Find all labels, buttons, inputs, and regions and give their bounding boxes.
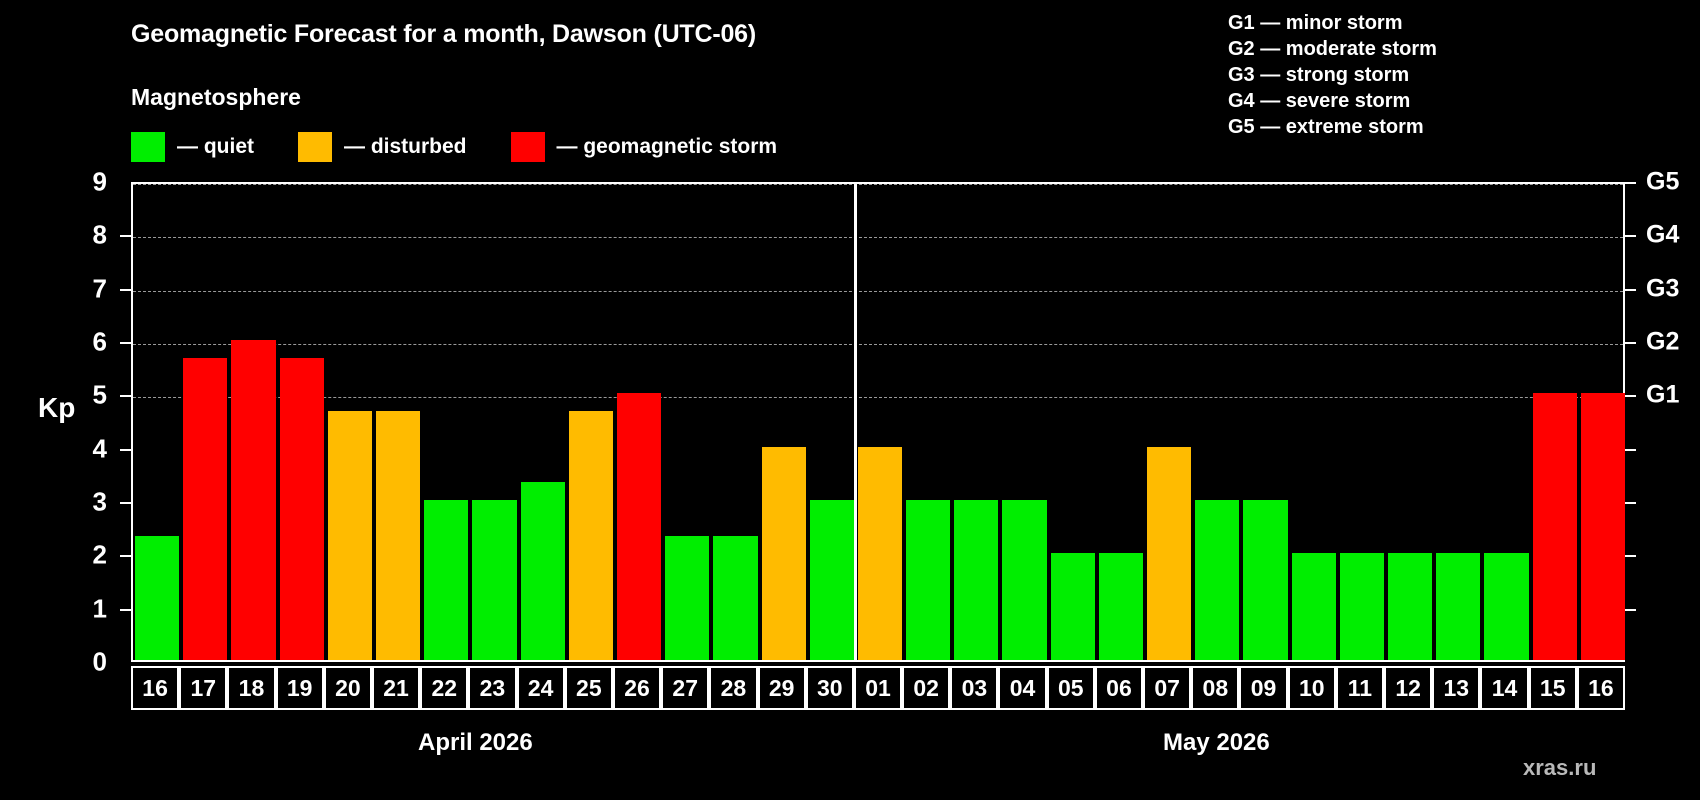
bar-26 — [617, 393, 661, 660]
bar-19 — [280, 358, 324, 660]
legend-label: — disturbed — [344, 135, 467, 159]
date-cell-8: 24 — [517, 666, 565, 710]
g-tick-label-G5: G5 — [1646, 168, 1679, 197]
g-tick-label-G4: G4 — [1646, 221, 1679, 250]
legend-item-disturbed: — disturbed — [298, 132, 511, 162]
g-tick-label-G3: G3 — [1646, 274, 1679, 303]
bar-05 — [1051, 553, 1095, 660]
bar-20 — [328, 411, 372, 660]
g-minor-tick-kp-2 — [1625, 555, 1636, 557]
bar-23 — [472, 500, 516, 660]
y-tick-label-8: 8 — [67, 220, 107, 251]
bar-25 — [569, 411, 613, 660]
date-cell-28: 14 — [1480, 666, 1528, 710]
date-cell-6: 22 — [420, 666, 468, 710]
y-tick-mark-8 — [120, 235, 131, 237]
g-tick-mark-G1 — [1625, 395, 1636, 397]
y-tick-mark-1 — [120, 609, 131, 611]
y-tick-label-3: 3 — [67, 487, 107, 518]
date-cell-10: 26 — [613, 666, 661, 710]
g-scale-legend: G1 — minor stormG2 — moderate stormG3 — … — [1228, 10, 1437, 140]
color-legend: — quiet— disturbed— geomagnetic storm — [131, 132, 821, 162]
chart-bars — [133, 184, 1623, 660]
bar-12 — [1388, 553, 1432, 660]
month-caption-may: May 2026 — [1163, 729, 1270, 757]
g-tick-label-G2: G2 — [1646, 328, 1679, 357]
chart-plot-area — [131, 182, 1625, 662]
y-tick-mark-6 — [120, 342, 131, 344]
bar-03 — [954, 500, 998, 660]
date-cell-23: 09 — [1239, 666, 1287, 710]
bar-10 — [1292, 553, 1336, 660]
date-cell-0: 16 — [131, 666, 179, 710]
date-cell-18: 04 — [998, 666, 1046, 710]
g-scale-line-5: G5 — extreme storm — [1228, 114, 1437, 140]
y-tick-mark-3 — [120, 502, 131, 504]
magnetosphere-subtitle: Magnetosphere — [131, 84, 301, 111]
g-tick-mark-G3 — [1625, 289, 1636, 291]
bar-15 — [1533, 393, 1577, 660]
red-square-icon — [511, 132, 545, 162]
date-cell-13: 29 — [758, 666, 806, 710]
date-cell-29: 15 — [1529, 666, 1577, 710]
legend-label: — geomagnetic storm — [557, 135, 778, 159]
month-divider-line — [854, 182, 857, 662]
bar-11 — [1340, 553, 1384, 660]
bar-08 — [1195, 500, 1239, 660]
bar-17 — [183, 358, 227, 660]
legend-item-geomagneticstorm: — geomagnetic storm — [511, 132, 822, 162]
legend-item-quiet: — quiet — [131, 132, 298, 162]
date-cell-7: 23 — [468, 666, 516, 710]
month-caption-april: April 2026 — [418, 729, 533, 757]
date-cell-26: 12 — [1384, 666, 1432, 710]
bar-04 — [1002, 500, 1046, 660]
date-cell-25: 11 — [1336, 666, 1384, 710]
date-cell-11: 27 — [661, 666, 709, 710]
y-tick-mark-4 — [120, 449, 131, 451]
y-tick-label-5: 5 — [67, 380, 107, 411]
g-minor-tick-kp-4 — [1625, 449, 1636, 451]
date-cell-21: 07 — [1143, 666, 1191, 710]
date-cell-5: 21 — [372, 666, 420, 710]
g-tick-label-G1: G1 — [1646, 381, 1679, 410]
date-cell-27: 13 — [1432, 666, 1480, 710]
bar-29 — [762, 447, 806, 660]
bar-28 — [713, 536, 757, 660]
date-cell-20: 06 — [1095, 666, 1143, 710]
date-cell-14: 30 — [806, 666, 854, 710]
date-cell-4: 20 — [324, 666, 372, 710]
bar-09 — [1243, 500, 1287, 660]
y-tick-label-7: 7 — [67, 273, 107, 304]
bar-22 — [424, 500, 468, 660]
green-square-icon — [131, 132, 165, 162]
legend-label: — quiet — [177, 135, 254, 159]
page-title: Geomagnetic Forecast for a month, Dawson… — [131, 20, 756, 49]
y-tick-label-1: 1 — [67, 593, 107, 624]
date-cell-15: 01 — [854, 666, 902, 710]
date-cell-30: 16 — [1577, 666, 1625, 710]
bar-18 — [231, 340, 275, 660]
bar-27 — [665, 536, 709, 660]
bar-07 — [1147, 447, 1191, 660]
y-tick-label-4: 4 — [67, 433, 107, 464]
bar-06 — [1099, 553, 1143, 660]
date-axis: 1617181920212223242526272829300102030405… — [131, 666, 1625, 710]
y-tick-label-0: 0 — [67, 647, 107, 678]
bar-30 — [810, 500, 854, 660]
date-cell-1: 17 — [179, 666, 227, 710]
y-tick-mark-5 — [120, 395, 131, 397]
bar-02 — [906, 500, 950, 660]
site-watermark: xras.ru — [1523, 755, 1596, 781]
g-scale-line-1: G1 — minor storm — [1228, 10, 1437, 36]
g-scale-line-3: G3 — strong storm — [1228, 62, 1437, 88]
bar-01 — [858, 447, 902, 660]
bar-16 — [1581, 393, 1625, 660]
date-cell-2: 18 — [227, 666, 275, 710]
y-tick-label-9: 9 — [67, 167, 107, 198]
g-scale-line-4: G4 — severe storm — [1228, 88, 1437, 114]
orange-square-icon — [298, 132, 332, 162]
bar-21 — [376, 411, 420, 660]
date-cell-9: 25 — [565, 666, 613, 710]
date-cell-17: 03 — [950, 666, 998, 710]
y-tick-label-6: 6 — [67, 327, 107, 358]
bar-13 — [1436, 553, 1480, 660]
g-minor-tick-kp-1 — [1625, 609, 1636, 611]
g-minor-tick-kp-3 — [1625, 502, 1636, 504]
y-tick-mark-7 — [120, 289, 131, 291]
g-tick-mark-G2 — [1625, 342, 1636, 344]
bar-24 — [521, 482, 565, 660]
y-tick-mark-2 — [120, 555, 131, 557]
date-cell-24: 10 — [1288, 666, 1336, 710]
y-tick-label-2: 2 — [67, 540, 107, 571]
date-cell-19: 05 — [1047, 666, 1095, 710]
date-cell-3: 19 — [276, 666, 324, 710]
bar-16 — [135, 536, 179, 660]
date-cell-22: 08 — [1191, 666, 1239, 710]
bar-14 — [1484, 553, 1528, 660]
g-scale-line-2: G2 — moderate storm — [1228, 36, 1437, 62]
date-cell-16: 02 — [902, 666, 950, 710]
g-tick-mark-G5 — [1625, 182, 1636, 184]
g-tick-mark-G4 — [1625, 235, 1636, 237]
date-cell-12: 28 — [709, 666, 757, 710]
